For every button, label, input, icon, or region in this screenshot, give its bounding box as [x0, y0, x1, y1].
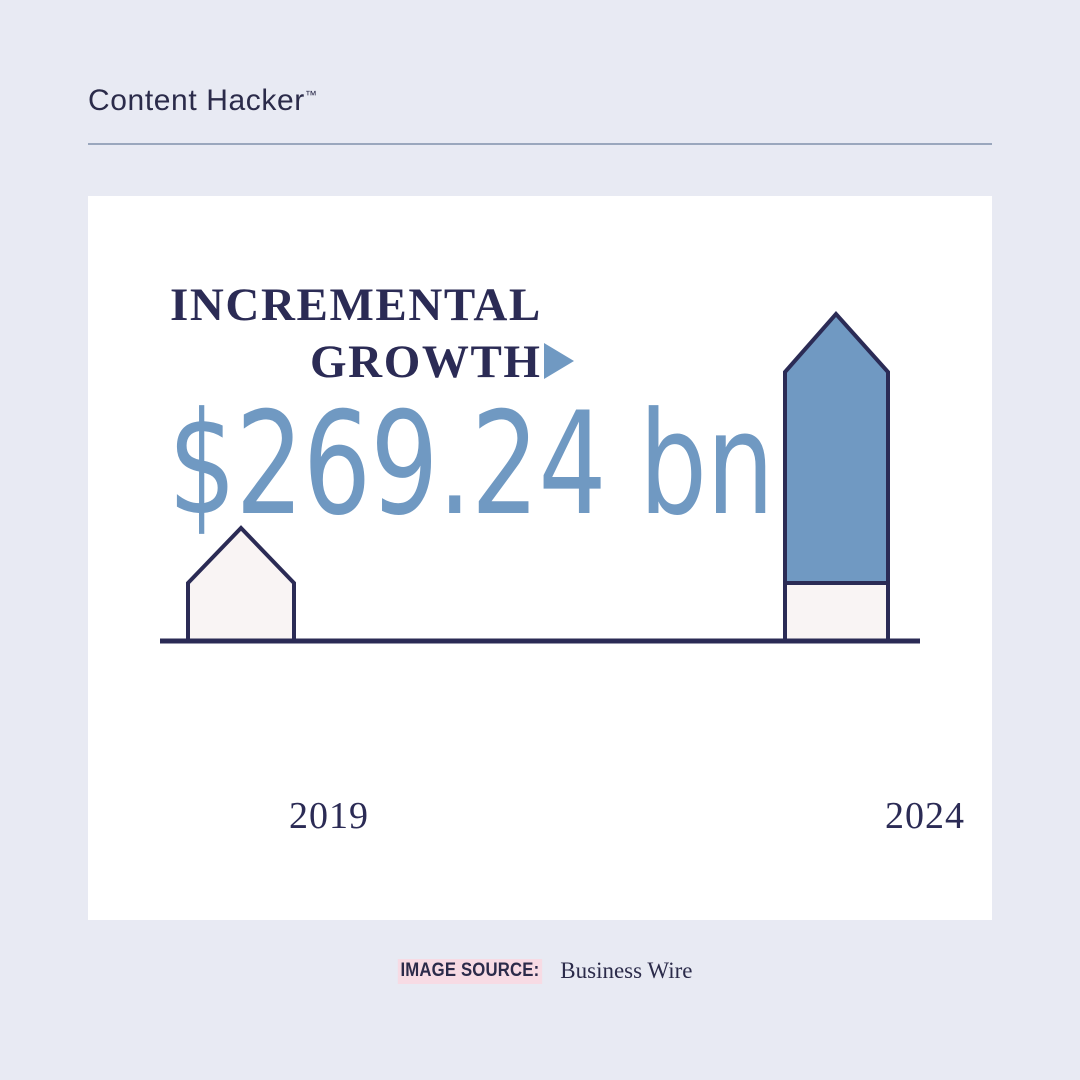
headline: INCREMENTAL GROWTH: [170, 282, 670, 385]
brand-name: Content Hacker: [88, 84, 305, 117]
x-axis-label-2024: 2024: [835, 794, 1015, 838]
infographic-page: Content Hacker™ INCREMENTAL GROWTH $269.…: [0, 0, 1080, 1080]
image-source-name: Business Wire: [560, 958, 692, 984]
highlight-value: $269.24 bn: [168, 394, 773, 536]
headline-line-2: GROWTH: [310, 339, 542, 385]
trademark-symbol: ™: [305, 88, 317, 102]
x-axis-label-2019: 2019: [239, 794, 419, 838]
header-divider: [88, 143, 992, 145]
infographic-card: INCREMENTAL GROWTH $269.24 bn 2019 2024: [88, 196, 992, 920]
image-source-row: IMAGE SOURCE:Business Wire: [0, 958, 1080, 984]
brand-header: Content Hacker™: [88, 86, 992, 146]
headline-line-2-row: GROWTH: [170, 335, 670, 385]
triangle-right-icon: [544, 343, 574, 379]
image-source-label: IMAGE SOURCE:: [397, 959, 541, 984]
bar-2024-base-segment: [785, 583, 888, 641]
bar-2024-growth-segment: [785, 314, 888, 583]
headline-line-1: INCREMENTAL: [170, 282, 670, 328]
brand-wordmark: Content Hacker™: [88, 86, 317, 116]
